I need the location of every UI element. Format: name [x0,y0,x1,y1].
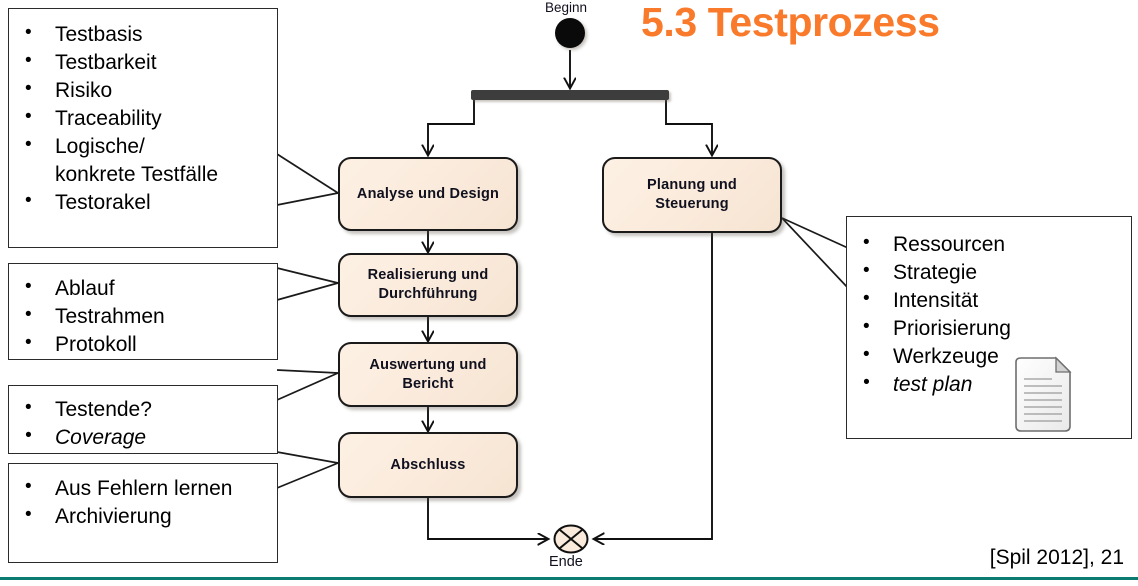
note-realisierung-list: Ablauf Testrahmen Protokoll [9,275,267,359]
note-realisierung: Ablauf Testrahmen Protokoll [8,263,278,360]
list-item: Testrahmen [9,303,267,331]
list-item: test plan [847,371,1121,399]
list-item: Protokoll [9,331,267,359]
note-abschluss-list: Aus Fehlern lernen Archivierung [9,475,267,531]
list-item: Archivierung [9,503,267,531]
slide-canvas: 5.3 Testprozess [0,0,1138,586]
start-node [555,18,585,48]
activity-realisierung-und-durchfuehrung[interactable]: Realisierung und Durchführung [338,253,518,317]
list-item: Traceability [9,105,267,133]
document-icon [1012,356,1074,434]
list-item: konkrete Testfälle [9,161,267,189]
note-analyse: Testbasis Testbarkeit Risiko Traceabilit… [8,8,278,248]
list-item: Strategie [847,259,1121,287]
list-item: Priorisierung [847,315,1121,343]
fork-bar [471,90,669,100]
note-planung: Ressourcen Strategie Intensität Priorisi… [846,216,1132,439]
note-abschluss: Aus Fehlern lernen Archivierung [8,463,278,563]
list-item: Aus Fehlern lernen [9,475,267,503]
footer-rule [0,577,1138,580]
list-item: Testbasis [9,21,267,49]
list-item: Testbarkeit [9,49,267,77]
activity-analyse-und-design[interactable]: Analyse und Design [338,157,518,231]
note-planung-list: Ressourcen Strategie Intensität Priorisi… [847,231,1121,399]
activity-planung-und-steuerung[interactable]: Planung und Steuerung [602,157,782,233]
list-item: Coverage [9,424,267,452]
end-node-label: Ende [549,554,583,570]
list-item: Werkzeuge [847,343,1121,371]
list-item: Risiko [9,77,267,105]
note-analyse-list: Testbasis Testbarkeit Risiko Traceabilit… [9,21,267,216]
start-node-label: Beginn [545,0,587,15]
page-title: 5.3 Testprozess [641,0,940,47]
list-item: Ablauf [9,275,267,303]
end-node [548,519,594,559]
list-item: Testorakel [9,189,267,217]
list-item: Ressourcen [847,231,1121,259]
list-item: Intensität [847,287,1121,315]
note-auswertung: Testende? Coverage [8,385,278,454]
activity-auswertung-und-bericht[interactable]: Auswertung und Bericht [338,342,518,407]
activity-abschluss[interactable]: Abschluss [338,432,518,498]
citation-text: [Spil 2012], 21 [990,546,1124,570]
list-item: Logische/ [9,133,267,161]
note-auswertung-list: Testende? Coverage [9,396,267,452]
list-item: Testende? [9,396,267,424]
